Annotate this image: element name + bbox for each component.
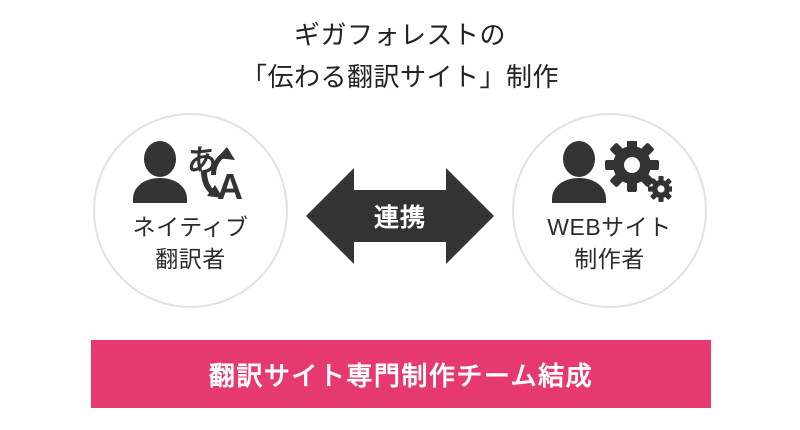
page-title-line-2: 「伝わる翻訳サイト」制作 xyxy=(0,56,800,98)
role-card-web-site-creator: WEBサイト 制作者 xyxy=(512,113,707,308)
result-banner-text: 翻訳サイト専門制作チーム結成 xyxy=(209,356,593,393)
double-headed-arrow-icon xyxy=(306,166,494,266)
page-title-line-1: ギガフォレストの xyxy=(0,14,800,56)
page-title: ギガフォレストの 「伝わる翻訳サイト」制作 xyxy=(0,14,800,98)
person-language-translate-icon: あ A xyxy=(129,141,253,203)
role-label-line-2: 翻訳者 xyxy=(133,243,249,275)
result-banner: 翻訳サイト専門制作チーム結成 xyxy=(91,340,711,408)
role-label-web-site-creator: WEBサイト 制作者 xyxy=(547,211,671,275)
role-label-native-translator: ネイティブ 翻訳者 xyxy=(133,211,249,275)
role-label-line-1: ネイティブ xyxy=(133,211,249,243)
diagram-canvas: ギガフォレストの 「伝わる翻訳サイト」制作 あ A xyxy=(0,0,800,430)
role-label-line-2: 制作者 xyxy=(547,243,671,275)
role-label-line-1: WEBサイト xyxy=(547,211,671,243)
person-gears-icon xyxy=(548,141,672,203)
role-card-native-translator: あ A ネイティブ 翻訳者 xyxy=(93,113,288,308)
connector-arrow: 連携 xyxy=(306,166,494,266)
